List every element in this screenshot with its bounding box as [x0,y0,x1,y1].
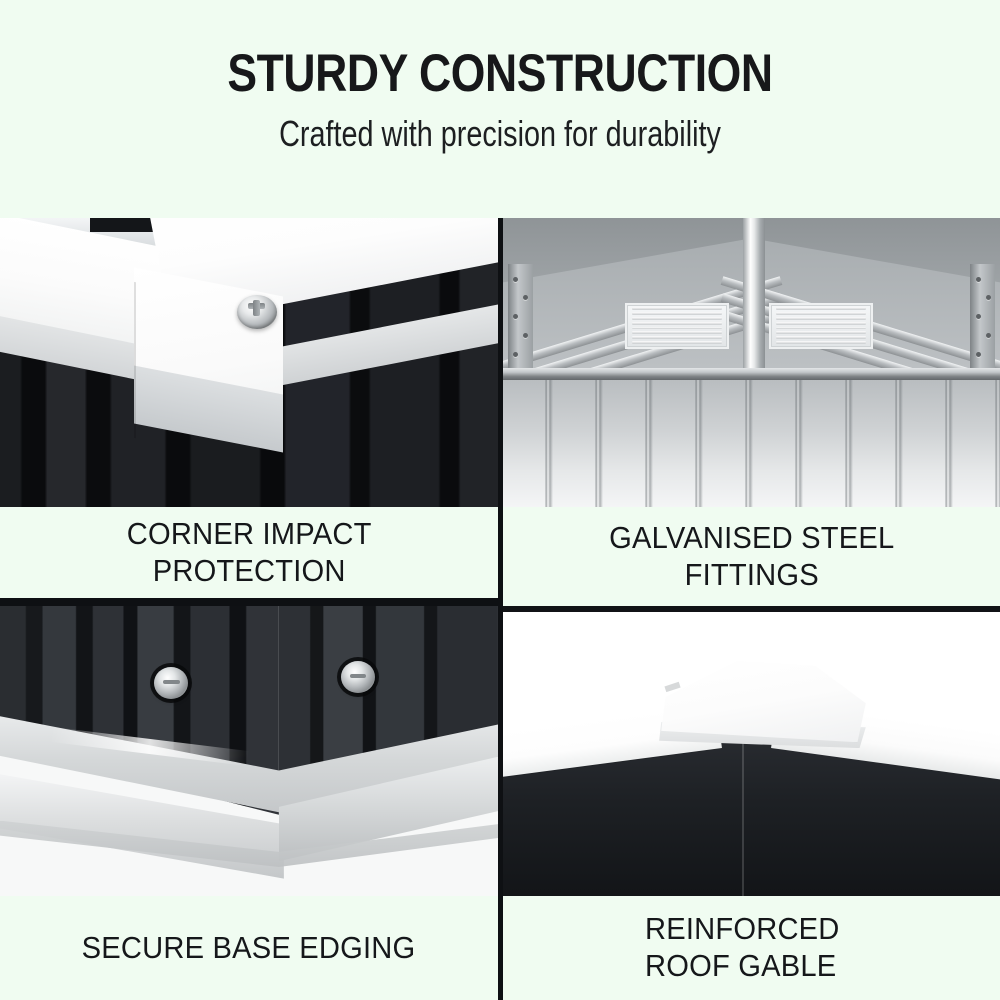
reinforced-roof-gable-image [503,606,1000,896]
louvre-slat [776,322,866,325]
header: STURDY CONSTRUCTION Crafted with precisi… [0,0,1000,218]
feature-panel-secure-base-edging: SECURE BASE EDGING [0,606,498,1000]
caption-secure-base-edging: SECURE BASE EDGING [0,896,498,1000]
louvre-slat [776,307,866,310]
chrome-screw-icon [237,295,277,329]
louvre-slat [776,331,866,334]
louvre-slat [776,312,866,315]
post-bolt [976,352,981,357]
louvre-slat [776,336,866,339]
louvre-slat [776,317,866,320]
ridge-beam [743,218,766,368]
corner-post-right [970,264,995,368]
caption-line-1: REINFORCED [645,911,840,948]
feature-panel-corner-impact-protection: CORNER IMPACT PROTECTION [0,218,498,598]
feature-panel-galvanised-steel-fittings: GALVANISED STEEL FITTINGS [503,218,1000,606]
caption-line-2: FITTINGS [609,557,894,594]
louvre-slat [776,327,866,330]
louvre-slat [632,307,722,310]
caption-line-2: PROTECTION [127,553,372,590]
gable-panel-seam [742,739,744,896]
louvre-vent-left [625,303,729,349]
feature-grid: CORNER IMPACT PROTECTION [0,218,1000,1000]
wall-purlin-rail [503,368,1000,380]
caption-line-1: CORNER IMPACT [127,516,372,553]
louvre-slat [632,317,722,320]
post-bolt [986,295,991,300]
feature-panel-reinforced-roof-gable: REINFORCED ROOF GABLE [503,606,1000,1000]
corrugated-wall [503,380,1000,507]
page-title: STURDY CONSTRUCTION [80,47,920,100]
wall-bolt-left [154,667,188,699]
post-bolt [513,314,518,319]
wall-bolt-right [341,661,375,693]
apex-cap [657,661,866,742]
horizontal-divider-left [0,598,498,606]
louvre-slat [776,341,866,344]
post-bolt [986,333,991,338]
louvre-slat [632,341,722,344]
corner-post-left [508,264,533,368]
louvre-vent-right [769,303,873,349]
post-bolt [976,314,981,319]
louvre-slat [632,331,722,334]
caption-line-1: SECURE BASE EDGING [82,930,416,967]
louvre-slat [632,327,722,330]
post-bolt [523,333,528,338]
page-subtitle: Crafted with precision for durability [100,113,900,154]
caption-corner-impact-protection: CORNER IMPACT PROTECTION [0,507,498,598]
louvre-slat [632,336,722,339]
post-bolt [976,277,981,282]
secure-base-edging-image [0,606,498,896]
louvre-slat [632,322,722,325]
caption-reinforced-roof-gable: REINFORCED ROOF GABLE [503,896,1000,1000]
louvre-slat [632,312,722,315]
caption-line-1: GALVANISED STEEL [609,520,894,557]
post-bolt [513,277,518,282]
caption-galvanised-steel-fittings: GALVANISED STEEL FITTINGS [503,507,1000,606]
post-bolt [523,295,528,300]
vertical-divider [498,218,503,1000]
top-dark-strip [503,606,1000,612]
galvanised-steel-fittings-image [503,218,1000,507]
post-bolt [513,352,518,357]
caption-line-2: ROOF GABLE [645,948,840,985]
corner-impact-protection-image [0,218,498,507]
product-feature-infographic: STURDY CONSTRUCTION Crafted with precisi… [0,0,1000,1000]
